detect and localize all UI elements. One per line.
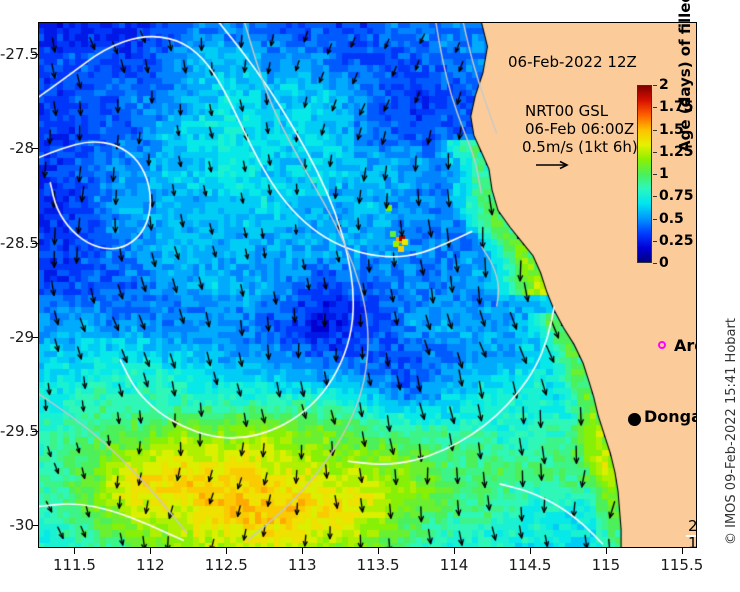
colorbar-tick-label: 1 — [659, 166, 669, 182]
colorbar-tick — [653, 107, 657, 108]
y-tick-label: -27.5 — [0, 45, 34, 63]
y-tick-label: -30 — [0, 516, 34, 534]
source-model-label: NRT00 GSL — [525, 102, 608, 120]
depth-200-line-sample — [686, 535, 697, 537]
colorbar-tick — [653, 196, 657, 197]
x-tick — [530, 548, 531, 554]
bathymetry-contours — [38, 22, 697, 548]
x-tick-label: 112 — [115, 556, 185, 574]
x-tick-label: 113.5 — [343, 556, 413, 574]
colorbar-tick-label: 0.25 — [659, 233, 694, 249]
colorbar-title: Age (days) of filled SST (wrt latest) — [676, 0, 694, 152]
y-tick-label: -28.5 — [0, 234, 34, 252]
colorbar-tick — [653, 152, 657, 153]
colorbar-tick-label: 2 — [659, 77, 669, 93]
colorbar-tick — [653, 263, 657, 264]
figure-canvas: 06-Feb-2022 12Z NRT00 GSL 06-Feb 06:00Z … — [0, 0, 740, 592]
vector-scale-label: 0.5m/s (1kt 6h) — [522, 138, 638, 156]
colorbar-tick — [653, 174, 657, 175]
x-tick — [302, 548, 303, 554]
map-plot-area[interactable]: 06-Feb-2022 12Z NRT00 GSL 06-Feb 06:00Z … — [38, 22, 697, 548]
x-tick — [682, 548, 683, 554]
vector-scale-arrow-icon — [536, 160, 572, 170]
source-time-label: 06-Feb 06:00Z — [525, 120, 634, 138]
copyright-credit: © IMOS 09-Feb-2022 15:41 Hobart — [724, 318, 739, 545]
y-tick-label: -29.5 — [0, 422, 34, 440]
x-tick — [378, 548, 379, 554]
x-tick — [150, 548, 151, 554]
date-stamp: 06-Feb-2022 12Z — [508, 53, 637, 71]
colorbar-tick-label: 0.75 — [659, 188, 694, 204]
colorbar-tick — [653, 241, 657, 242]
x-tick-label: 114 — [419, 556, 489, 574]
dongara-marker-icon — [628, 413, 641, 426]
x-tick — [226, 548, 227, 554]
x-tick-label: 115 — [571, 556, 641, 574]
colorbar-tick — [653, 130, 657, 131]
colorbar-frame — [637, 85, 652, 263]
y-tick-label: -29 — [0, 328, 34, 346]
x-tick — [454, 548, 455, 554]
x-tick-label: 112.5 — [191, 556, 261, 574]
x-tick — [606, 548, 607, 554]
colorbar-tick-label: 0.5 — [659, 211, 684, 227]
argo-marker-icon — [658, 341, 666, 349]
x-tick-label: 114.5 — [495, 556, 565, 574]
depth-200-label: 200m — [688, 518, 697, 535]
colorbar-tick-label: 0 — [659, 255, 669, 271]
colorbar-tick — [653, 219, 657, 220]
x-tick-label: 113 — [267, 556, 337, 574]
x-tick-label: 115.5 — [647, 556, 717, 574]
dongara-city-label: Dongara — [644, 407, 697, 426]
x-tick — [74, 548, 75, 554]
x-tick-label: 111.5 — [39, 556, 109, 574]
depth-contour-legend: 200m 1000m — [688, 518, 697, 548]
y-tick-label: -28 — [0, 139, 34, 157]
argo-legend-label: Argo — [674, 336, 697, 355]
colorbar-tick — [653, 85, 657, 86]
